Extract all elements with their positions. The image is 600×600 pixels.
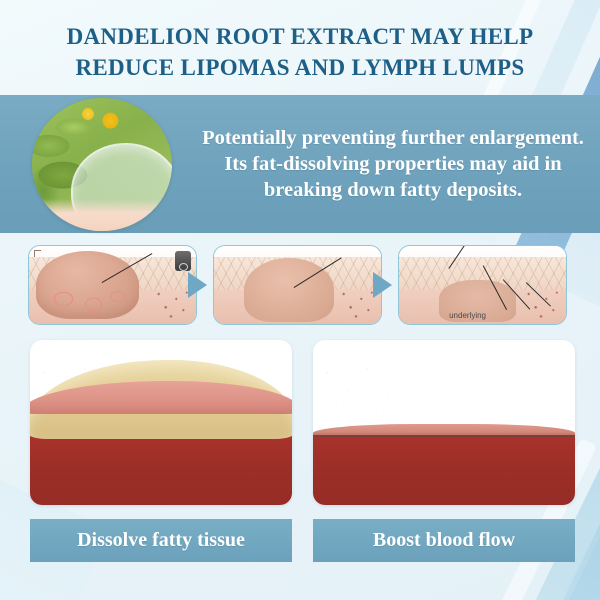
title-line-1: DANDELION ROOT EXTRACT MAY HELP	[16, 22, 584, 53]
blood-flow-illustration	[313, 340, 575, 505]
label-text-boost: Boost blood flow	[373, 529, 515, 552]
label-text-dissolve: Dissolve fatty tissue	[77, 529, 245, 552]
arrow-right-icon-2	[373, 272, 392, 298]
benefit-cards: Dissolve fatty tissue Boost blood flow	[0, 340, 600, 575]
muscle-layer-left	[30, 436, 292, 505]
lipoma-lump-medium	[244, 258, 334, 322]
underlying-label: underlying	[449, 311, 486, 320]
step-card-1	[28, 245, 197, 325]
page-title: DANDELION ROOT EXTRACT MAY HELP REDUCE L…	[0, 0, 600, 83]
tissue-seam-right	[313, 435, 575, 437]
tissue-dots-1	[149, 287, 192, 323]
banner-text: Potentially preventing further enlargeme…	[200, 125, 586, 204]
benefit-card-boost-blood-flow: Boost blood flow	[313, 340, 575, 562]
muscle-speckle-right	[313, 350, 457, 426]
fatty-tissue-illustration	[30, 340, 292, 505]
photo-hand-layer	[32, 199, 172, 231]
step-card-2	[213, 245, 382, 325]
corner-mark-icon	[34, 250, 41, 257]
muscle-layer-right	[313, 436, 575, 505]
blood-vessels-1	[39, 277, 133, 321]
arrow-right-icon-1	[188, 272, 207, 298]
benefit-card-dissolve-fatty-tissue: Dissolve fatty tissue	[30, 340, 292, 562]
step-card-3: underlying	[398, 245, 567, 325]
dandelion-root-photo	[32, 98, 172, 231]
label-bar-boost: Boost blood flow	[313, 519, 575, 562]
label-bar-dissolve: Dissolve fatty tissue	[30, 519, 292, 562]
magnifier-icon	[175, 251, 191, 271]
tissue-dots-2	[334, 287, 377, 323]
title-line-2: REDUCE LIPOMAS AND LYMPH LUMPS	[16, 53, 584, 84]
step-sequence: underlying	[0, 245, 600, 335]
